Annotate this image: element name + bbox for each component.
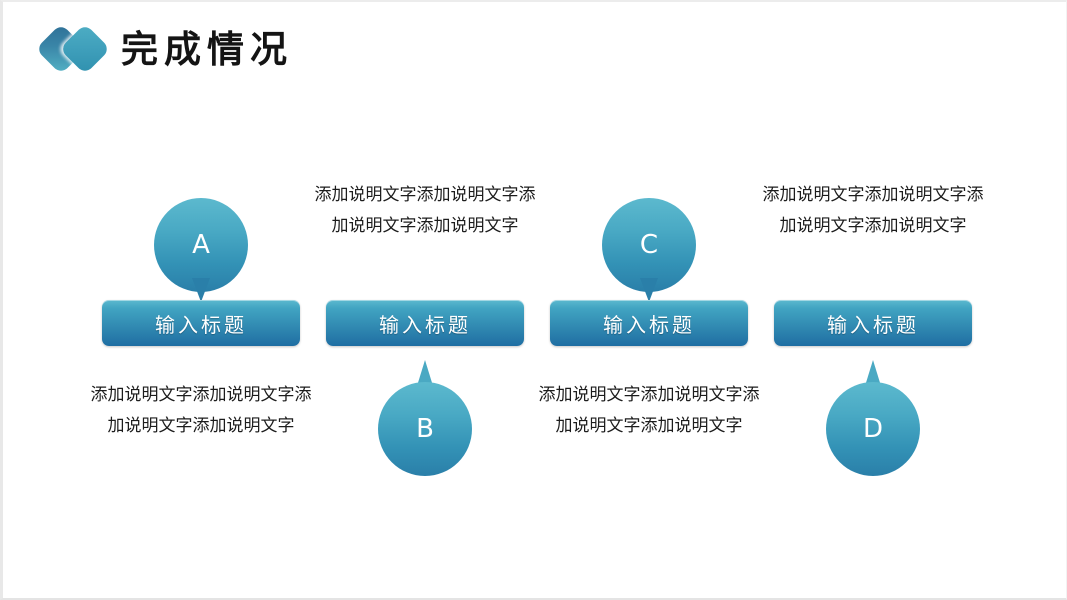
title-bar-c-label: 输入标题 <box>603 309 695 338</box>
title-bar-b[interactable]: 输入标题 <box>326 300 524 346</box>
pin-c-tail-icon <box>640 278 658 302</box>
pin-b-letter: B <box>416 416 434 442</box>
title-bar-c[interactable]: 输入标题 <box>550 300 748 346</box>
slide-canvas: 完成情况 A 输入标题 添加说明文字添加说明文字添加说明文字添加说明文字 添加说… <box>0 0 1067 600</box>
pin-d-bubble: D <box>826 382 920 476</box>
four-step-diagram: A 输入标题 添加说明文字添加说明文字添加说明文字添加说明文字 添加说明文字添加… <box>3 2 1066 598</box>
pin-d-letter: D <box>863 416 883 442</box>
title-bar-a-label: 输入标题 <box>155 309 247 338</box>
title-bar-d-label: 输入标题 <box>827 309 919 338</box>
description-a: 添加说明文字添加说明文字添加说明文字添加说明文字 <box>89 380 313 442</box>
title-bar-a[interactable]: 输入标题 <box>102 300 300 346</box>
title-bar-b-label: 输入标题 <box>379 309 471 338</box>
description-c: 添加说明文字添加说明文字添加说明文字添加说明文字 <box>537 380 761 442</box>
description-b: 添加说明文字添加说明文字添加说明文字添加说明文字 <box>313 180 537 242</box>
description-d: 添加说明文字添加说明文字添加说明文字添加说明文字 <box>761 180 985 242</box>
pin-b[interactable]: B <box>378 364 472 458</box>
pin-c[interactable]: C <box>602 198 696 292</box>
pin-d[interactable]: D <box>826 364 920 458</box>
pin-c-letter: C <box>640 232 658 258</box>
title-bar-d[interactable]: 输入标题 <box>774 300 972 346</box>
pin-a-letter: A <box>192 232 210 258</box>
pin-a-tail-icon <box>192 278 210 302</box>
pin-a[interactable]: A <box>154 198 248 292</box>
pin-b-bubble: B <box>378 382 472 476</box>
